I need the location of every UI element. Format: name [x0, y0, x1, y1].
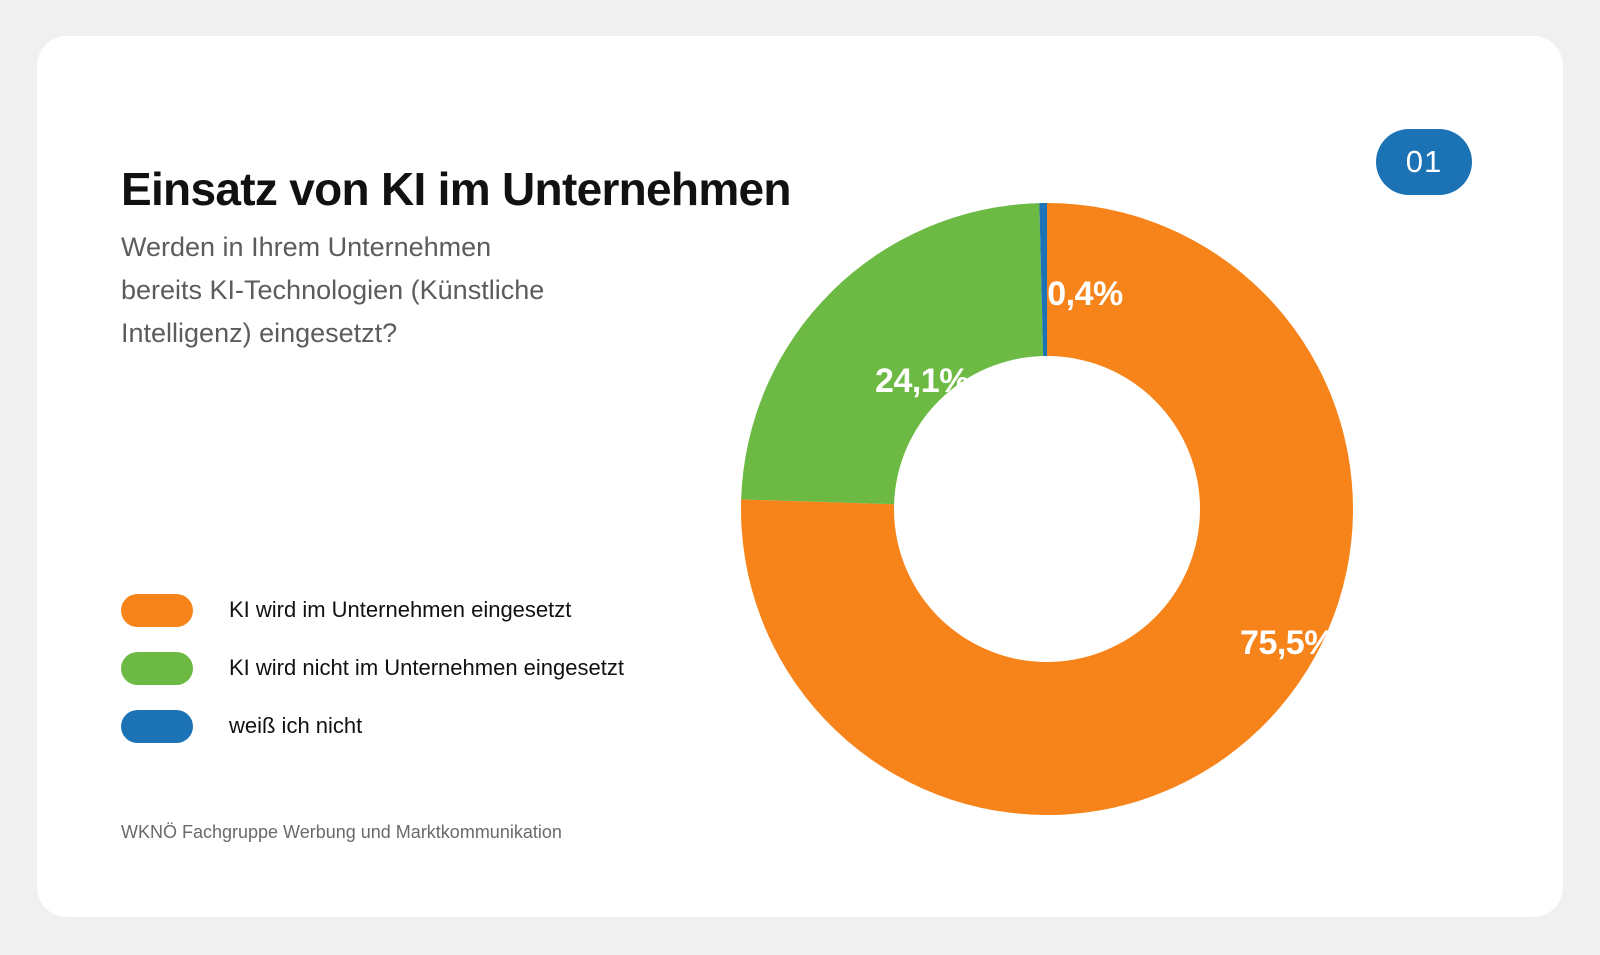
slide-number-text: 01: [1406, 144, 1442, 180]
chart-legend: KI wird im Unternehmen eingesetzt KI wir…: [121, 581, 624, 755]
slide-card: Einsatz von KI im Unternehmen 01 Werden …: [37, 36, 1563, 917]
legend-label-ki-nicht-eingesetzt: KI wird nicht im Unternehmen eingesetzt: [229, 655, 624, 681]
donut-value-label-3: 0,4%: [1047, 275, 1123, 313]
donut-value-label-2: 24,1%: [875, 362, 969, 400]
donut-value-label-1: 75,5%: [1240, 624, 1334, 662]
donut-chart: 75,5%24,1%0,4%: [740, 202, 1354, 816]
legend-label-weiss-ich-nicht: weiß ich nicht: [229, 713, 362, 739]
question-text: Werden in Ihrem Unternehmen bereits KI-T…: [121, 226, 641, 355]
legend-swatch-orange: [121, 594, 193, 627]
question-line-1: Werden in Ihrem Unternehmen: [121, 226, 641, 269]
legend-swatch-green: [121, 652, 193, 685]
legend-item-weiss-ich-nicht[interactable]: weiß ich nicht: [121, 697, 624, 755]
slide-number-badge: 01: [1376, 129, 1472, 195]
legend-swatch-blue: [121, 710, 193, 743]
donut-chart-svg: 75,5%24,1%0,4%: [740, 202, 1354, 816]
page-title: Einsatz von KI im Unternehmen: [121, 162, 791, 216]
legend-item-ki-nicht-eingesetzt[interactable]: KI wird nicht im Unternehmen eingesetzt: [121, 639, 624, 697]
question-line-3: Intelligenz) eingesetzt?: [121, 312, 641, 355]
legend-label-ki-eingesetzt: KI wird im Unternehmen eingesetzt: [229, 597, 571, 623]
legend-item-ki-eingesetzt[interactable]: KI wird im Unternehmen eingesetzt: [121, 581, 624, 639]
source-footer: WKNÖ Fachgruppe Werbung und Marktkommuni…: [121, 822, 562, 843]
donut-slice-2[interactable]: [741, 203, 1043, 504]
question-line-2: bereits KI-Technologien (Künstliche: [121, 269, 641, 312]
